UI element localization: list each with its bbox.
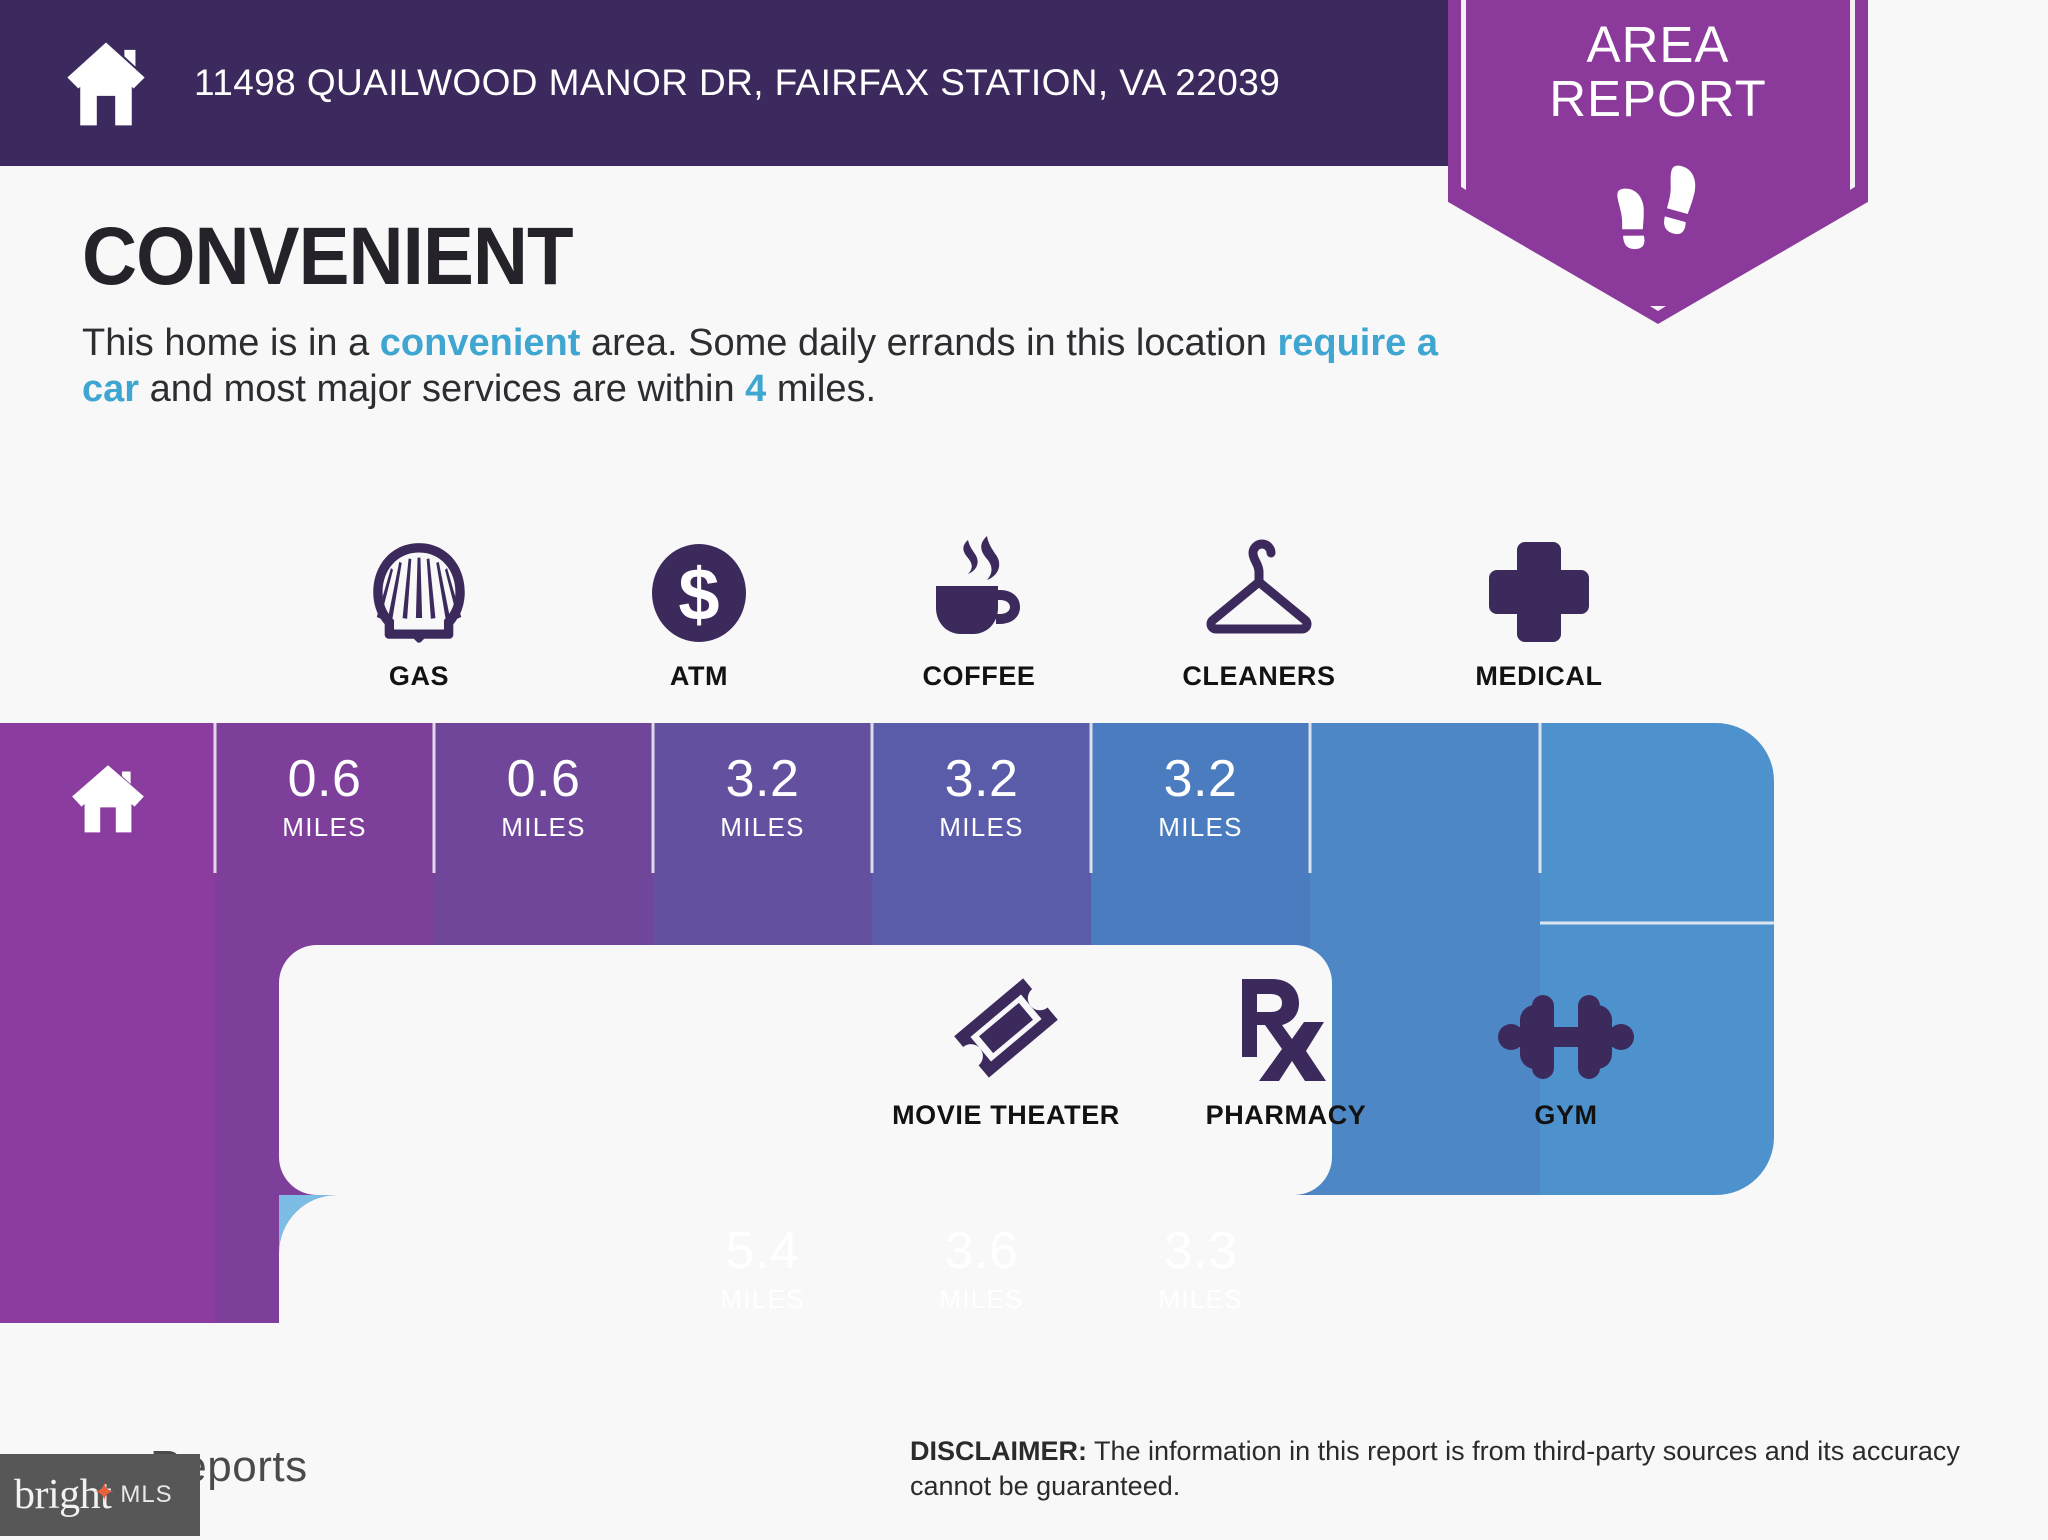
- disclaimer: DISCLAIMER: The information in this repo…: [910, 1434, 1980, 1503]
- distance-unit: MILES: [939, 812, 1024, 843]
- amenity-atm: $ ATM: [559, 526, 839, 692]
- summary-highlight: convenient: [380, 322, 581, 364]
- amenity-icon-row-2: MOVIE THEATER PHARMACY GYM: [866, 965, 1706, 1131]
- summary-highlight: 4: [745, 368, 766, 410]
- amenity-label: MEDICAL: [1475, 661, 1602, 692]
- distance-unit: MILES: [282, 812, 367, 843]
- distance-unit: MILES: [1158, 812, 1243, 843]
- logo-star-icon: ✦: [93, 1483, 113, 1503]
- amenity-label: CLEANERS: [1182, 661, 1335, 692]
- badge-line-2: REPORT: [1448, 72, 1868, 126]
- property-address: 11498 QUAILWOOD MANOR DR, FAIRFAX STATIO…: [194, 60, 1280, 105]
- logo-mls-text: MLS: [120, 1481, 172, 1509]
- distance-unit: MILES: [939, 1284, 1024, 1315]
- coffee-cup-icon: [924, 526, 1034, 644]
- medical-cross-icon: [1487, 526, 1591, 644]
- bar-segment-cleaners: 3.2 MILES: [872, 723, 1091, 873]
- bar-segment-coffee: 3.2 MILES: [653, 723, 872, 873]
- distance-value: 3.2: [945, 753, 1019, 805]
- distance-value: 3.3: [1164, 1225, 1238, 1277]
- summary-fragment: miles.: [766, 368, 876, 410]
- summary-text: This home is in a convenient area. Some …: [82, 320, 1442, 413]
- shell-icon: [367, 526, 471, 644]
- badge-label: AREA REPORT: [1448, 18, 1868, 125]
- home-icon: [60, 37, 152, 129]
- movie-ticket-icon: [951, 965, 1061, 1083]
- amenity-pharmacy: PHARMACY: [1146, 965, 1426, 1131]
- logo-wordmark: bright✦: [14, 1471, 111, 1519]
- amenity-gas: GAS: [279, 526, 559, 692]
- disclaimer-label: DISCLAIMER:: [910, 1436, 1087, 1466]
- bar-segment-medical: 3.2 MILES: [1091, 723, 1310, 873]
- home-marker: [0, 723, 215, 873]
- header-bar: 11498 QUAILWOOD MANOR DR, FAIRFAX STATIO…: [0, 0, 1448, 166]
- badge-line-1: AREA: [1448, 18, 1868, 72]
- distance-unit: MILES: [1158, 1284, 1243, 1315]
- summary-fragment: and most major services are within: [139, 368, 745, 410]
- distance-unit: MILES: [501, 812, 586, 843]
- amenity-label: MOVIE THEATER: [892, 1100, 1120, 1131]
- dumbbell-icon: [1496, 965, 1636, 1083]
- bar-segment-atm: 0.6 MILES: [434, 723, 653, 873]
- distance-value: 3.6: [945, 1225, 1019, 1277]
- amenity-label: GYM: [1534, 1100, 1597, 1131]
- amenity-label: GAS: [389, 661, 449, 692]
- dollar-circle-icon: $: [649, 526, 749, 644]
- distance-value: 3.2: [726, 753, 800, 805]
- distance-unit: MILES: [720, 812, 805, 843]
- amenity-gym: GYM: [1426, 965, 1706, 1131]
- amenity-label: COFFEE: [922, 661, 1035, 692]
- distance-value: 5.4: [726, 1225, 800, 1277]
- distance-value: 0.6: [288, 753, 362, 805]
- amenity-cleaners: CLEANERS: [1119, 526, 1399, 692]
- rx-icon: [1234, 965, 1338, 1083]
- summary-fragment: This home is in a: [82, 322, 380, 364]
- bar-segment-gas: 0.6 MILES: [215, 723, 434, 873]
- distance-unit: MILES: [720, 1284, 805, 1315]
- distance-value: 0.6: [507, 753, 581, 805]
- distance-value: 3.2: [1164, 753, 1238, 805]
- amenity-label: PHARMACY: [1206, 1100, 1367, 1131]
- amenity-label: ATM: [670, 661, 728, 692]
- amenity-movie-theater: MOVIE THEATER: [866, 965, 1146, 1131]
- svg-text:$: $: [678, 553, 719, 636]
- brightmls-logo: bright✦ MLS: [0, 1454, 200, 1536]
- footprints-icon: [1602, 146, 1714, 254]
- amenity-medical: MEDICAL: [1399, 526, 1679, 692]
- clothes-hanger-icon: [1201, 526, 1317, 644]
- amenity-icon-row-1: GAS $ ATM COFFEE CLEANER: [279, 526, 1679, 692]
- area-report-badge: AREA REPORT: [1448, 0, 1868, 324]
- home-icon: [69, 762, 147, 834]
- summary-fragment: area. Some daily errands in this locatio…: [580, 322, 1277, 364]
- amenity-coffee: COFFEE: [839, 526, 1119, 692]
